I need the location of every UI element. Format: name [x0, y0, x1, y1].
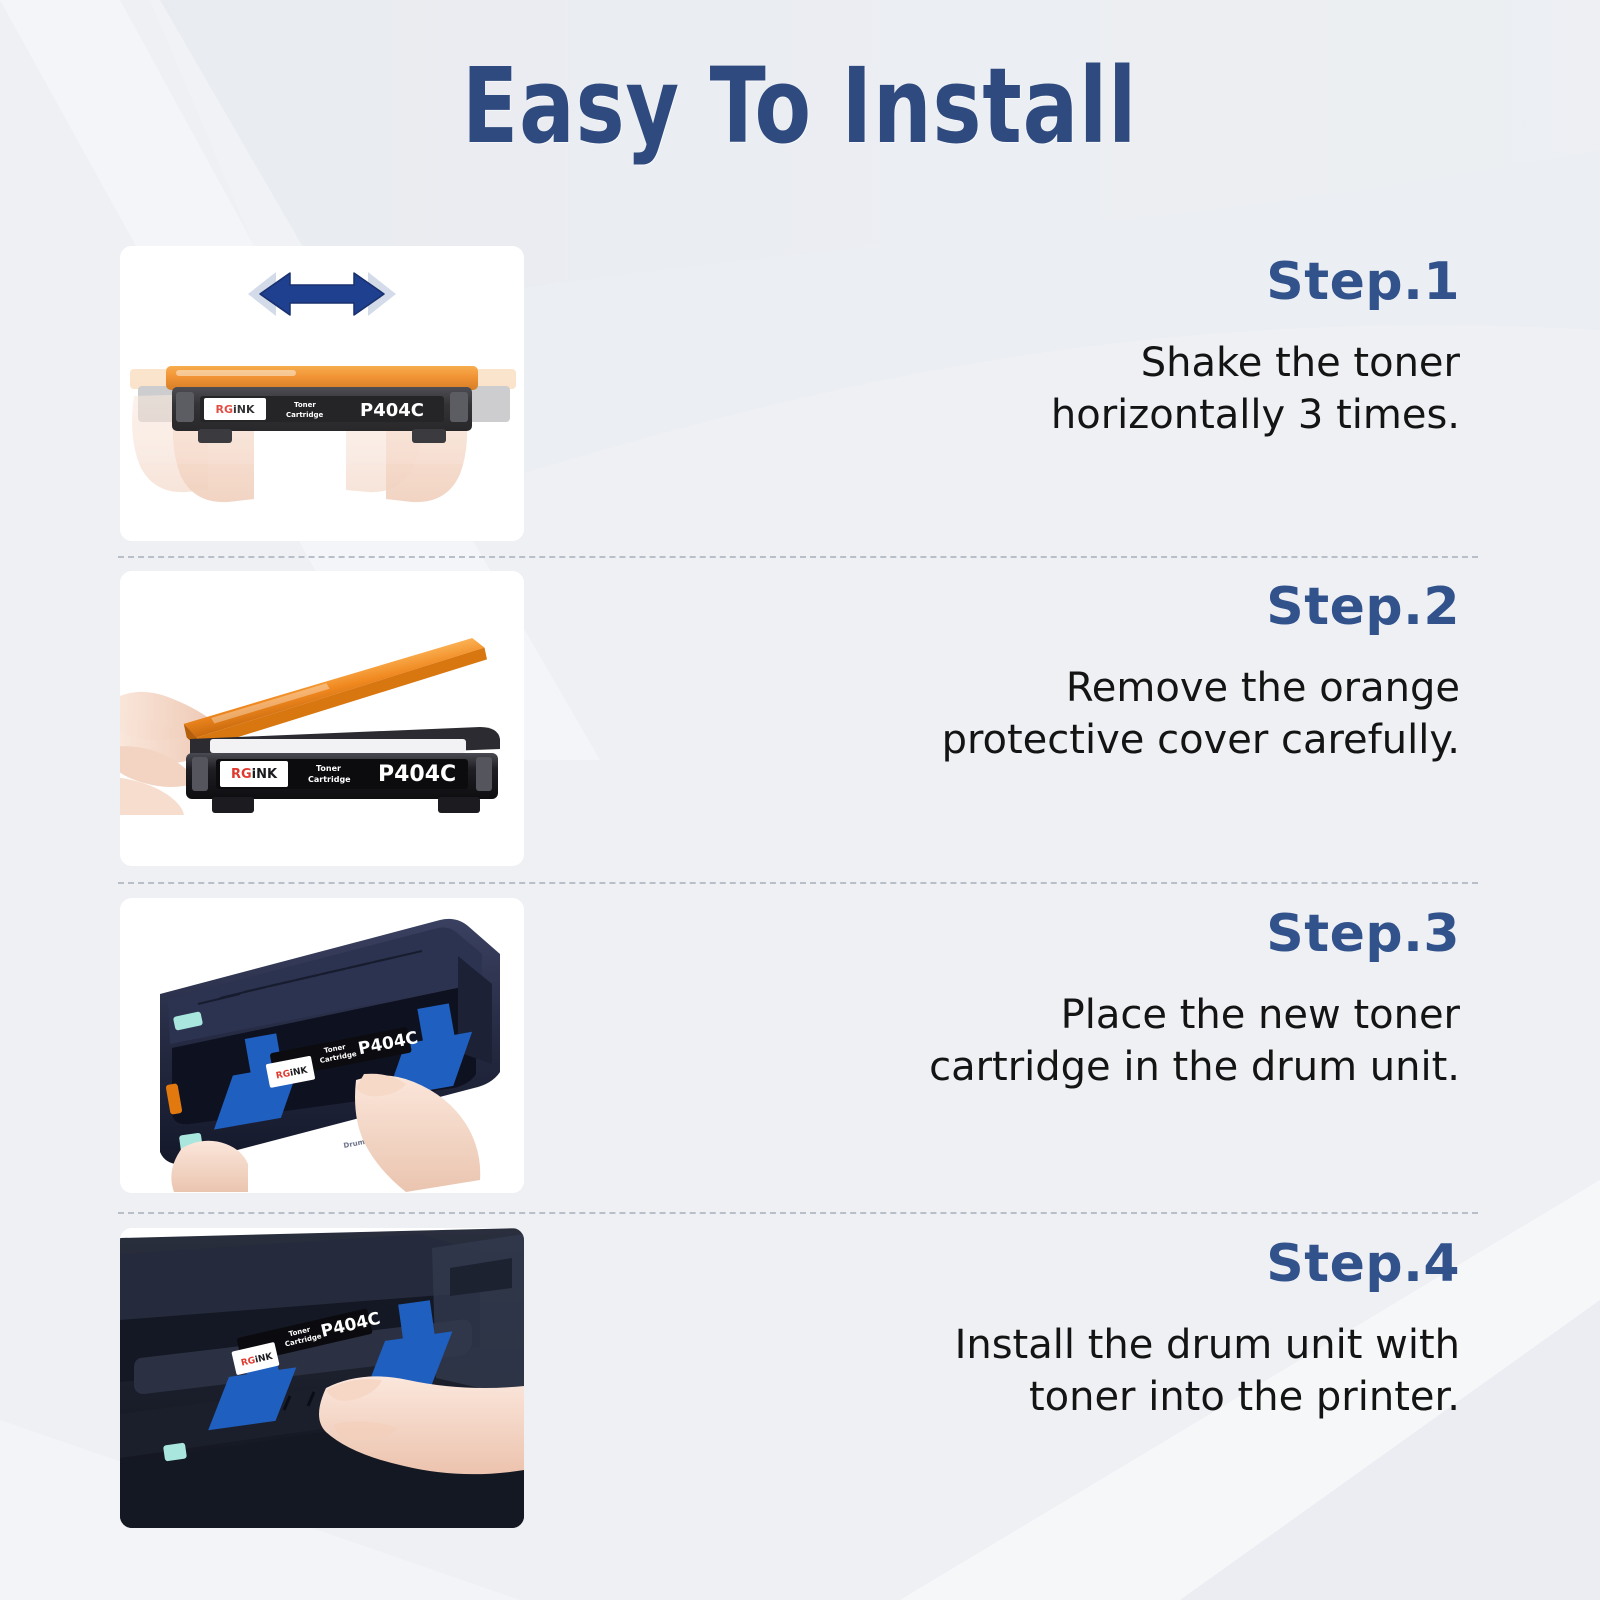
step-row-2: RGiNK Toner Cartridge P404C Step.2 Remov… [0, 571, 1600, 866]
step-2-description: Remove the orange protective cover caref… [524, 662, 1460, 766]
step-1-text: Step.1 Shake the toner horizontally 3 ti… [524, 246, 1600, 441]
page-title: Easy To Install [462, 52, 1137, 161]
brand-text: RGiNK [231, 767, 278, 782]
step-4-image-panel: RGiNK Toner Cartridge P404C [120, 1228, 524, 1528]
place-toner-in-drum-illustration: Drum Unit RGiNK Toner Cartridge P404 [120, 898, 524, 1193]
steps-list: RGiNK Toner Cartridge P404C Step.1 Shake… [0, 0, 1600, 1600]
step-3-description: Place the new toner cartridge in the dru… [524, 989, 1460, 1093]
model-text: P404C [378, 762, 456, 787]
label-line2: Cartridge [308, 775, 351, 784]
step-2-text: Step.2 Remove the orange protective cove… [524, 571, 1600, 766]
step-2-heading: Step.2 [524, 579, 1460, 636]
step-row-1: RGiNK Toner Cartridge P404C Step.1 Shake… [0, 246, 1600, 541]
step-3-image-panel: Drum Unit RGiNK Toner Cartridge P404 [120, 898, 524, 1193]
teal-tab [163, 1443, 187, 1462]
install-drum-into-printer-illustration: RGiNK Toner Cartridge P404C [120, 1228, 524, 1528]
step-4-heading: Step.4 [524, 1236, 1460, 1293]
page-title-container: Easy To Install [0, 52, 1600, 161]
divider-3 [118, 1212, 1478, 1214]
remove-orange-cover-illustration: RGiNK Toner Cartridge P404C [120, 571, 524, 866]
step-1-heading: Step.1 [524, 254, 1460, 311]
printer-interior [120, 1228, 524, 1528]
step-4-text: Step.4 Install the drum unit with toner … [524, 1228, 1600, 1423]
step-1-description: Shake the toner horizontally 3 times. [524, 337, 1460, 441]
step-2-image-panel: RGiNK Toner Cartridge P404C [120, 571, 524, 866]
step-3-text: Step.3 Place the new toner cartridge in … [524, 898, 1600, 1093]
step-4-description: Install the drum unit with toner into th… [524, 1319, 1460, 1423]
step-row-3: Drum Unit RGiNK Toner Cartridge P404 [0, 898, 1600, 1193]
shake-toner-illustration: RGiNK Toner Cartridge P404C [120, 246, 524, 541]
divider-2 [118, 882, 1478, 884]
label-line1: Toner [316, 764, 341, 773]
step-1-image-panel: RGiNK Toner Cartridge P404C [120, 246, 524, 541]
step-row-4: RGiNK Toner Cartridge P404C Step.4 Insta… [0, 1228, 1600, 1528]
divider-1 [118, 556, 1478, 558]
step-3-heading: Step.3 [524, 906, 1460, 963]
